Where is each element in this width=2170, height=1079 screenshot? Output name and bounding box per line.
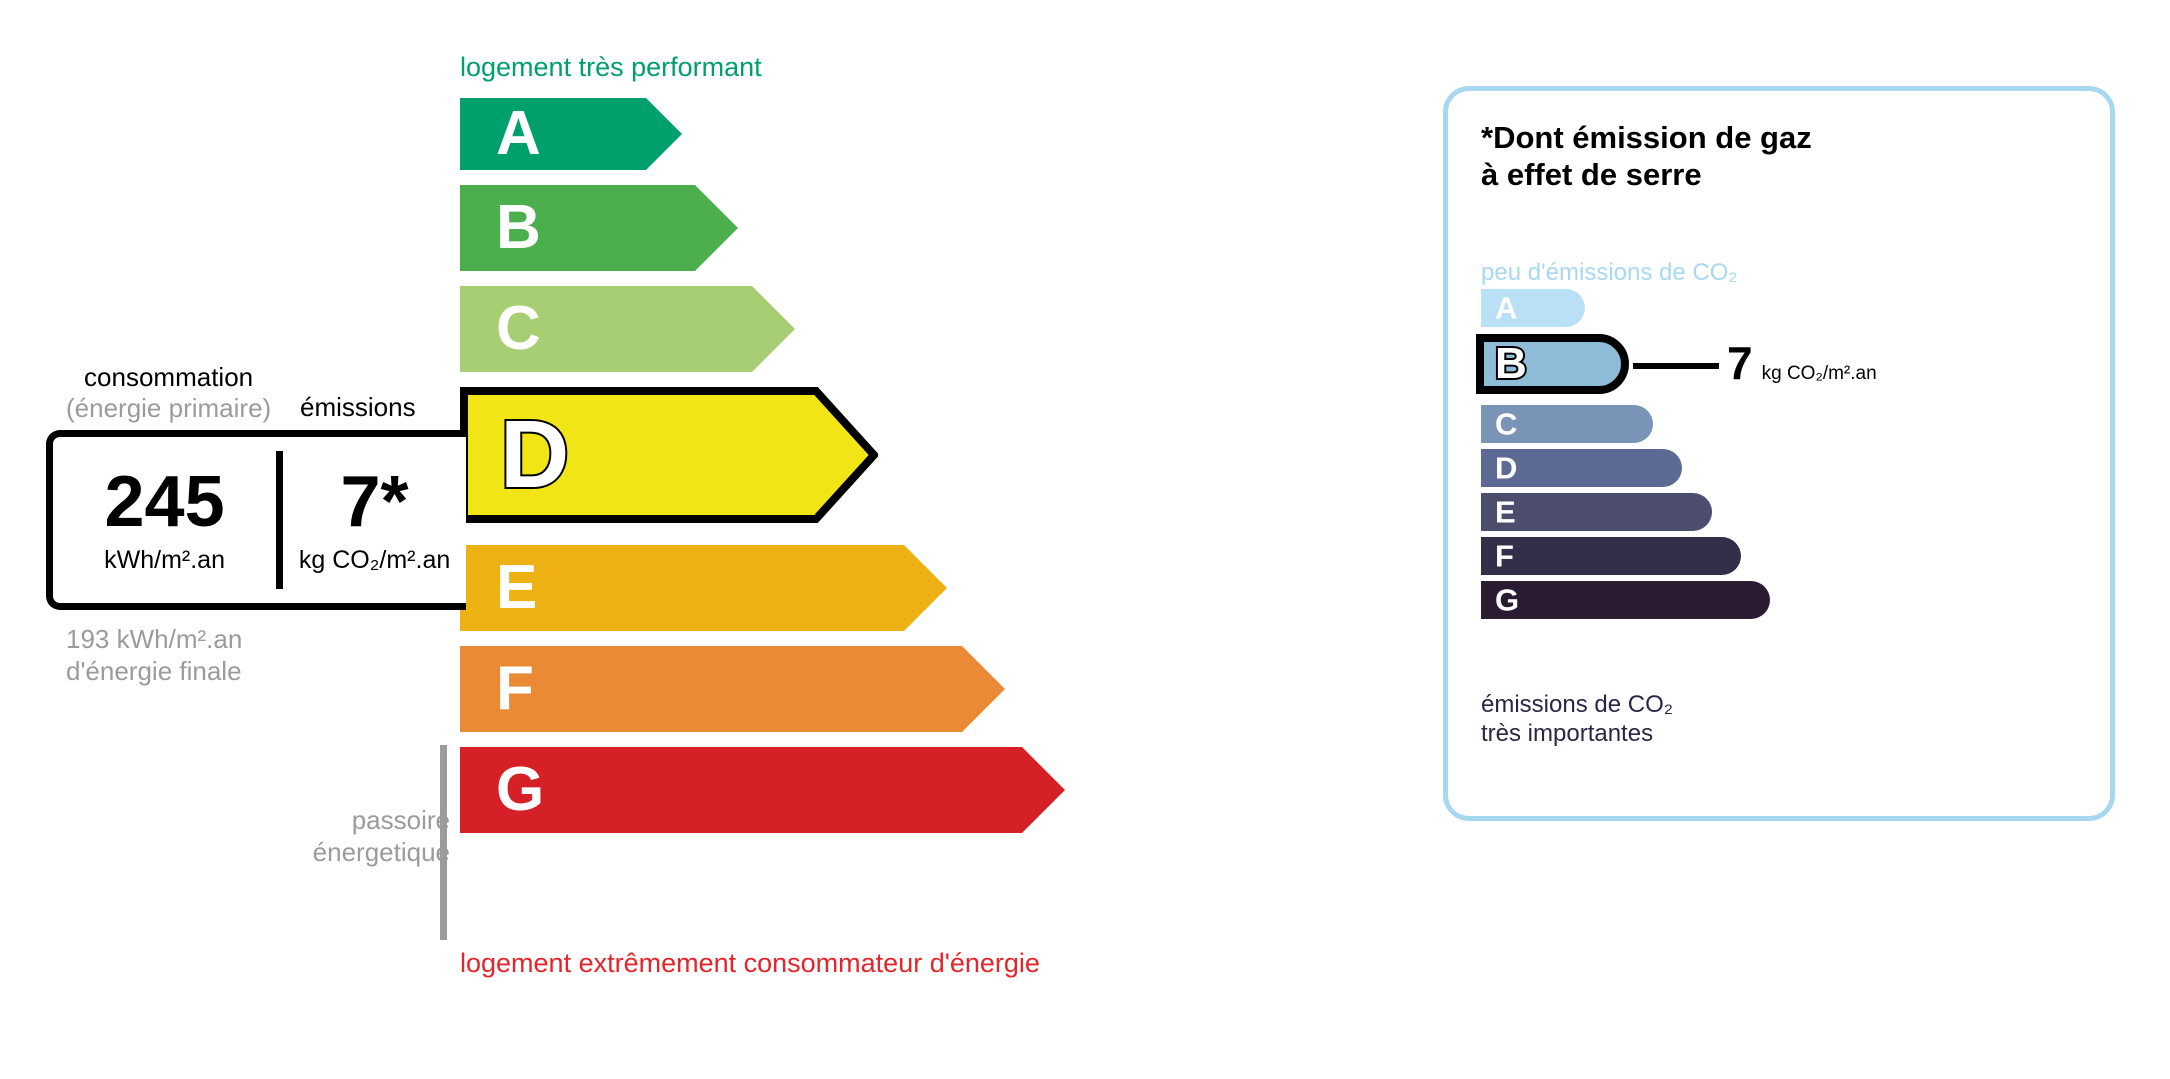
energy-bar-row-g[interactable]: G: [460, 747, 1065, 833]
energy-bar-row-e[interactable]: E: [460, 545, 1065, 631]
co2-bar-letter-b: B: [1495, 342, 1527, 386]
energy-scale-top-caption: logement très performant: [460, 52, 762, 83]
energy-bar-letter-a: A: [496, 103, 541, 165]
emissions-header: émissions: [300, 392, 416, 423]
emissions-value-cell: 7* kg CO₂/m².an: [283, 437, 466, 603]
energy-bar-letter-e: E: [496, 557, 537, 619]
energy-bar-row-b[interactable]: B: [460, 185, 1065, 271]
co2-emissions-panel: *Dont émission de gaz à effet de serre p…: [1443, 86, 2115, 821]
co2-bar-row-f[interactable]: F: [1481, 537, 1770, 575]
consumption-value-cell: 245 kWh/m².an: [53, 437, 276, 603]
emissions-unit: kg CO₂/m².an: [299, 546, 450, 575]
co2-title-line2: à effet de serre: [1481, 156, 1812, 193]
co2-bar-row-a[interactable]: A: [1481, 289, 1770, 327]
value-box-divider: [276, 451, 283, 589]
energy-bar-row-f[interactable]: F: [460, 646, 1065, 732]
energy-bar-row-a[interactable]: A: [460, 98, 1065, 170]
passoire-line1: passoire: [280, 805, 450, 837]
passoire-energetique-label: passoire énergetique: [280, 805, 450, 868]
energy-bar-letter-c: C: [496, 298, 541, 360]
co2-bar-letter-f: F: [1495, 541, 1514, 572]
co2-bar-row-b-selected[interactable]: B 7 kg CO₂/m².an: [1481, 333, 1770, 395]
co2-bar-letter-c: C: [1495, 409, 1517, 440]
energy-performance-panel: logement très performant A B C D: [0, 0, 1400, 1079]
co2-rating-bars: A B 7 kg CO₂/m².an C D E: [1481, 289, 1770, 625]
co2-bar-letter-g: G: [1495, 585, 1519, 616]
co2-bar-shape-g: [1481, 581, 1770, 619]
consumption-header-line1: consommation: [84, 362, 253, 392]
passoire-line2: énergetique: [280, 837, 450, 869]
co2-bar-row-d[interactable]: D: [1481, 449, 1770, 487]
energy-bar-shape-g: [460, 747, 1065, 833]
co2-callout-value: 7 kg CO₂/m².an: [1727, 340, 1877, 386]
co2-title-line1: *Dont émission de gaz: [1481, 119, 1812, 156]
co2-bar-row-g[interactable]: G: [1481, 581, 1770, 619]
energy-bar-row-d-selected[interactable]: D: [460, 387, 1065, 523]
energy-bar-letter-f: F: [496, 658, 534, 720]
co2-callout-number: 7: [1727, 340, 1753, 386]
co2-bottom-caption-line2: très importantes: [1481, 720, 1673, 749]
co2-bar-row-e[interactable]: E: [1481, 493, 1770, 531]
co2-bar-letter-a: A: [1495, 293, 1517, 324]
energy-bar-letter-g: G: [496, 759, 544, 821]
co2-bar-letter-e: E: [1495, 497, 1516, 528]
consumption-header: consommation (énergie primaire): [66, 362, 271, 423]
co2-bar-row-c[interactable]: C: [1481, 405, 1770, 443]
co2-callout-leader-line: [1633, 363, 1719, 369]
energy-scale-bottom-caption: logement extrêmement consommateur d'éner…: [460, 948, 1040, 979]
consumption-value: 245: [104, 466, 224, 538]
emissions-value: 7*: [341, 466, 409, 538]
co2-callout-unit: kg CO₂/m².an: [1762, 363, 1877, 385]
energy-bar-shape-a: [460, 98, 682, 170]
energy-rating-bars: A B C D E: [460, 98, 1065, 848]
final-energy-line2: d'énergie finale: [66, 656, 242, 688]
co2-bar-shape-f: [1481, 537, 1741, 575]
energy-bar-letter-d: D: [500, 407, 569, 503]
co2-scale-bottom-caption: émissions de CO₂ très importantes: [1481, 691, 1673, 749]
energy-bar-row-c[interactable]: C: [460, 286, 1065, 372]
co2-panel-title: *Dont émission de gaz à effet de serre: [1481, 119, 1812, 193]
co2-bottom-caption-line1: émissions de CO₂: [1481, 691, 1673, 720]
final-energy-line1: 193 kWh/m².an: [66, 624, 242, 656]
measured-values-box: 245 kWh/m².an 7* kg CO₂/m².an: [46, 430, 466, 610]
final-energy-note: 193 kWh/m².an d'énergie finale: [66, 624, 242, 687]
co2-scale-top-caption: peu d'émissions de CO₂: [1481, 259, 1738, 287]
consumption-unit: kWh/m².an: [104, 546, 225, 575]
consumption-header-line2: (énergie primaire): [66, 393, 271, 424]
energy-bar-shape-f: [460, 646, 1005, 732]
energy-bar-letter-b: B: [496, 197, 541, 259]
co2-bar-letter-d: D: [1495, 453, 1517, 484]
